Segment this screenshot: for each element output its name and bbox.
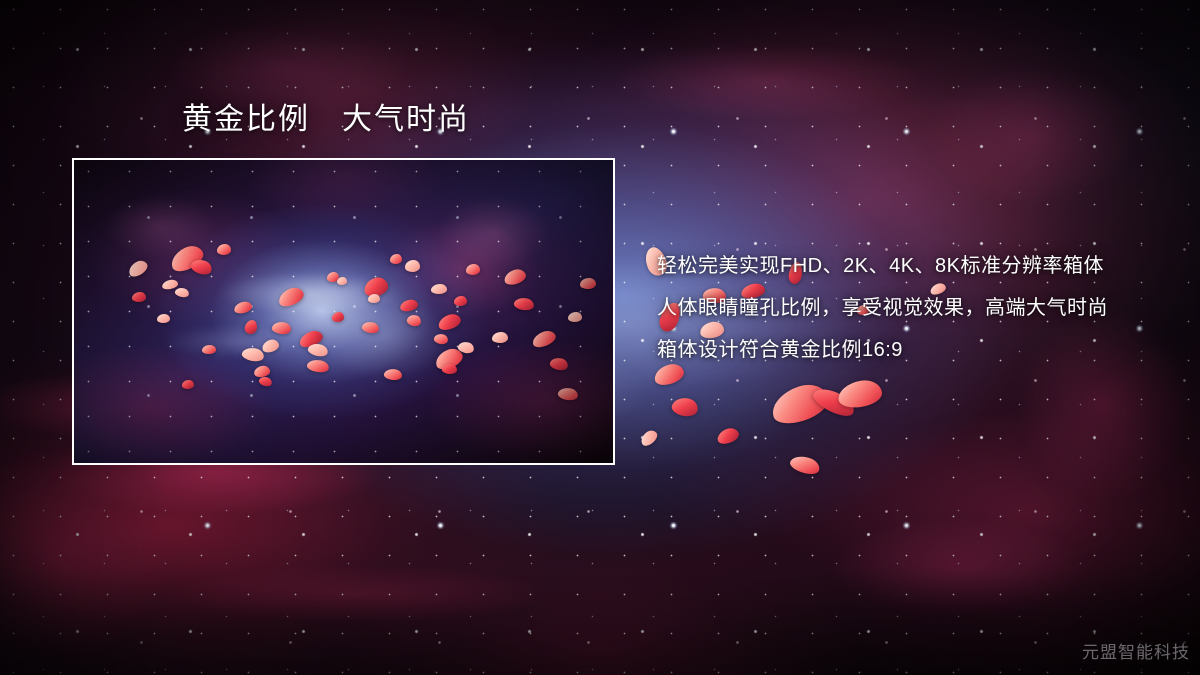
body-text-block: 轻松完美实现FHD、2K、4K、8K标准分辨率箱体 人体眼睛瞳孔比例，享受视觉效… — [657, 256, 1177, 360]
petal — [652, 361, 686, 388]
body-line: 人体眼睛瞳孔比例，享受视觉效果，高端大气时尚 — [657, 298, 1177, 318]
body-line: 轻松完美实现FHD、2K、4K、8K标准分辨率箱体 — [657, 256, 1177, 276]
slide-title: 黄金比例 大气时尚 — [182, 101, 470, 139]
petal — [670, 395, 699, 418]
watermark: 元盟智能科技 — [1082, 638, 1190, 663]
petal — [788, 453, 821, 477]
frame-vignette — [74, 160, 613, 463]
petal — [638, 428, 660, 449]
petal — [810, 383, 858, 421]
petal — [767, 379, 833, 429]
body-line: 箱体设计符合黄金比例16:9 — [657, 340, 1177, 360]
framed-image — [72, 158, 615, 465]
petal — [836, 378, 883, 410]
slide-canvas: 黄金比例 大气时尚 轻松完美实现FHD、2K、4K、8K标准分辨率箱体 人体眼睛… — [0, 0, 1200, 675]
petal — [715, 426, 740, 446]
